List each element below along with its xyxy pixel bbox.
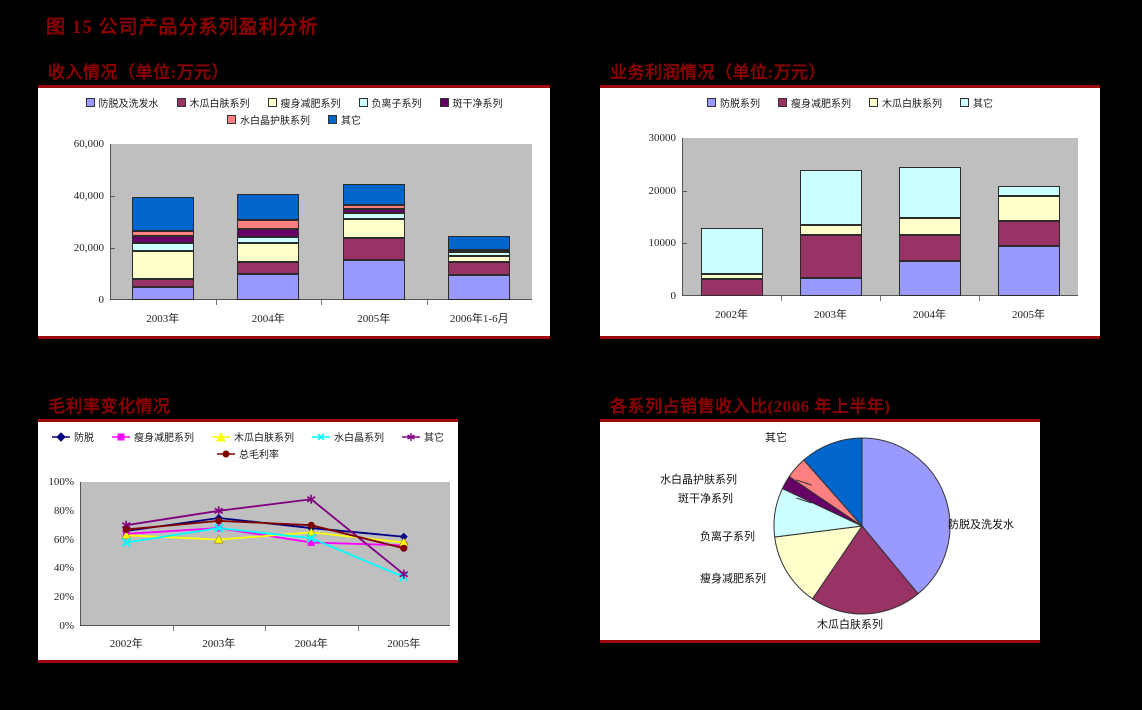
page-title: 图 15 公司产品分系列盈利分析 [46, 12, 319, 39]
panel-margin-rule-bottom [38, 660, 458, 663]
legend-label: 总毛利率 [239, 446, 279, 461]
chart-share: 防脱及洗发水木瓜白肤系列瘦身减肥系列负离子系列斑干净系列水白晶护肤系列其它 [600, 422, 1040, 640]
bar-segment[interactable] [132, 243, 194, 251]
legend-label: 防脱系列 [720, 95, 760, 110]
y-axis-tick [110, 248, 115, 249]
legend-item[interactable]: 瘦身减肥系列 [778, 95, 851, 110]
bar-segment[interactable] [800, 278, 862, 296]
bar-segment[interactable] [343, 260, 405, 300]
legend-item[interactable]: 其它 [402, 429, 444, 444]
pie-slice-label: 斑干净系列 [678, 490, 733, 506]
legend-item[interactable]: 其它 [328, 112, 361, 127]
legend-item[interactable]: 总毛利率 [217, 446, 279, 461]
legend-label: 其它 [424, 429, 444, 444]
bar-segment[interactable] [343, 209, 405, 213]
x-axis-tick [979, 296, 980, 301]
legend-swatch-icon [177, 98, 186, 107]
legend-item[interactable]: 其它 [960, 95, 993, 110]
y-axis-tick-label: 0 [38, 294, 104, 306]
legend-label: 木瓜白肤系列 [190, 95, 250, 110]
bar-segment[interactable] [237, 194, 299, 220]
legend-swatch-icon [268, 98, 277, 107]
line-series-layer [38, 474, 458, 660]
legend-item[interactable]: 木瓜白肤系列 [177, 95, 250, 110]
legend-item[interactable]: 瘦身减肥系列 [268, 95, 341, 110]
bar-segment[interactable] [132, 287, 194, 300]
data-point-marker[interactable] [215, 517, 222, 524]
y-axis-tick-label: 20000 [600, 185, 676, 197]
panel-profit-title: 业务利润情况（单位:万元） [610, 58, 1100, 83]
panel-profit-rule-bottom [600, 336, 1100, 339]
bar-stack[interactable] [343, 144, 405, 300]
bar-segment[interactable] [237, 274, 299, 300]
bar-segment[interactable] [800, 225, 862, 235]
bar-segment[interactable] [899, 235, 961, 260]
legend-revenue: 防脱及洗发水木瓜白肤系列瘦身减肥系列负离子系列斑干净系列水白晶护肤系列其它 [38, 88, 550, 130]
bar-stack[interactable] [237, 144, 299, 300]
bar-segment[interactable] [701, 274, 763, 279]
legend-label: 瘦身减肥系列 [134, 429, 194, 444]
bar-segment[interactable] [237, 243, 299, 262]
legend-item[interactable]: 木瓜白肤系列 [212, 429, 294, 444]
y-axis-tick-label: 10000 [600, 237, 676, 249]
x-axis-tick [216, 300, 217, 305]
bar-segment[interactable] [343, 184, 405, 206]
bar-segment[interactable] [343, 219, 405, 238]
panel-share: 各系列占销售收入比(2006 年上半年) 防脱及洗发水木瓜白肤系列瘦身减肥系列负… [600, 392, 1040, 643]
bar-segment[interactable] [132, 231, 194, 236]
bar-segment[interactable] [800, 170, 862, 226]
legend-marker-icon [212, 432, 230, 442]
legend-item[interactable]: 防脱及洗发水 [86, 95, 159, 110]
bar-segment[interactable] [998, 221, 1060, 246]
y-axis-tick [682, 243, 687, 244]
bar-segment[interactable] [343, 205, 405, 208]
bar-segment[interactable] [899, 261, 961, 296]
legend-swatch-icon [86, 98, 95, 107]
legend-label: 瘦身减肥系列 [281, 95, 341, 110]
legend-swatch-icon [440, 98, 449, 107]
panel-share-body: 防脱及洗发水木瓜白肤系列瘦身减肥系列负离子系列斑干净系列水白晶护肤系列其它 [600, 422, 1040, 640]
bar-segment[interactable] [343, 238, 405, 259]
bar-stack[interactable] [800, 138, 862, 296]
x-axis-tick-label: 2003年 [110, 310, 216, 326]
legend-label: 防脱及洗发水 [99, 95, 159, 110]
pie-slice-label: 木瓜白肤系列 [795, 616, 905, 632]
data-point-marker[interactable] [400, 545, 407, 552]
bar-segment[interactable] [237, 229, 299, 237]
chart-revenue: 020,00040,00060,0002003年2004年2005年2006年1… [38, 136, 550, 336]
panel-profit-body: 防脱系列瘦身减肥系列木瓜白肤系列其它 01000020000300002002年… [600, 88, 1100, 336]
x-axis-tick-label: 2005年 [979, 306, 1078, 322]
panel-revenue-title: 收入情况（单位:万元） [48, 58, 550, 83]
legend-swatch-icon [359, 98, 368, 107]
legend-label: 其它 [341, 112, 361, 127]
y-axis-tick [110, 196, 115, 197]
panel-revenue: 收入情况（单位:万元） 防脱及洗发水木瓜白肤系列瘦身减肥系列负离子系列斑干净系列… [38, 58, 550, 339]
bar-segment[interactable] [132, 236, 194, 242]
legend-label: 木瓜白肤系列 [234, 429, 294, 444]
panel-share-rule-bottom [600, 640, 1040, 643]
legend-item[interactable]: 瘦身减肥系列 [112, 429, 194, 444]
legend-marker-icon [52, 432, 70, 442]
x-axis-tick [781, 296, 782, 301]
pie-slice-label: 负离子系列 [700, 528, 755, 544]
y-axis-tick [682, 191, 687, 192]
legend-label: 瘦身减肥系列 [791, 95, 851, 110]
bar-segment[interactable] [237, 220, 299, 229]
panel-margin: 毛利率变化情况 防脱 瘦身减肥系列 木瓜白肤系列 水白晶系列 其它 总毛利率 [38, 392, 458, 663]
bar-segment[interactable] [237, 262, 299, 274]
bar-segment[interactable] [448, 262, 510, 275]
legend-item[interactable]: 斑干净系列 [440, 95, 503, 110]
legend-swatch-icon [960, 98, 969, 107]
chart-margin: 0%20%40%60%80%100%2002年2003年2004年2005年 [38, 474, 458, 660]
y-axis-tick-label: 0 [600, 290, 676, 302]
bar-segment[interactable] [701, 228, 763, 274]
legend-item[interactable]: 木瓜白肤系列 [869, 95, 942, 110]
x-axis-tick-label: 2006年1-6月 [427, 310, 533, 326]
bar-segment[interactable] [998, 186, 1060, 196]
bar-segment[interactable] [237, 237, 299, 243]
bar-segment[interactable] [448, 252, 510, 256]
legend-label: 斑干净系列 [453, 95, 503, 110]
x-axis-tick [880, 296, 881, 301]
bar-segment[interactable] [132, 197, 194, 231]
legend-marker-icon [112, 432, 130, 442]
bar-segment[interactable] [899, 167, 961, 218]
chart-profit: 01000020000300002002年2003年2004年2005年 [600, 128, 1100, 336]
x-axis-tick-label: 2004年 [216, 310, 322, 326]
bar-segment[interactable] [998, 196, 1060, 221]
legend-item[interactable]: 防脱系列 [707, 95, 760, 110]
bar-segment[interactable] [343, 213, 405, 220]
bar-stack[interactable] [701, 138, 763, 296]
legend-swatch-icon [328, 115, 337, 124]
legend-item[interactable]: 水白晶护肤系列 [227, 112, 310, 127]
legend-label: 负离子系列 [372, 95, 422, 110]
y-axis-tick-label: 60,000 [38, 138, 104, 150]
bar-segment[interactable] [998, 246, 1060, 296]
pie-slice-label: 防脱及洗发水 [948, 516, 1014, 532]
legend-item[interactable]: 负离子系列 [359, 95, 422, 110]
legend-label: 其它 [973, 95, 993, 110]
y-axis-tick-label: 40,000 [38, 190, 104, 202]
data-point-marker[interactable] [308, 522, 315, 529]
x-axis-tick-label: 2002年 [682, 306, 781, 322]
bar-segment[interactable] [701, 279, 763, 296]
bar-segment[interactable] [448, 256, 510, 262]
panel-revenue-body: 防脱及洗发水木瓜白肤系列瘦身减肥系列负离子系列斑干净系列水白晶护肤系列其它 02… [38, 88, 550, 336]
legend-swatch-icon [707, 98, 716, 107]
bar-stack[interactable] [998, 138, 1060, 296]
bar-stack[interactable] [448, 144, 510, 300]
legend-label: 防脱 [74, 429, 94, 444]
bar-stack[interactable] [132, 144, 194, 300]
panel-share-title: 各系列占销售收入比(2006 年上半年) [610, 392, 1040, 417]
x-axis-tick [427, 300, 428, 305]
legend-marker-icon [312, 432, 330, 442]
bar-segment[interactable] [800, 235, 862, 277]
bar-segment[interactable] [132, 279, 194, 287]
data-point-marker[interactable] [123, 526, 130, 533]
x-axis-tick-label: 2005年 [321, 310, 427, 326]
x-axis-tick [321, 300, 322, 305]
legend-swatch-icon [778, 98, 787, 107]
legend-marker-icon [402, 432, 420, 442]
legend-label: 水白晶系列 [334, 429, 384, 444]
legend-profit: 防脱系列瘦身减肥系列木瓜白肤系列其它 [600, 88, 1100, 113]
legend-margin: 防脱 瘦身减肥系列 木瓜白肤系列 水白晶系列 其它 总毛利率 [38, 422, 458, 464]
legend-item[interactable]: 防脱 [52, 429, 94, 444]
panel-revenue-rule-bottom [38, 336, 550, 339]
slide-canvas: 图 15 公司产品分系列盈利分析 收入情况（单位:万元） 防脱及洗发水木瓜白肤系… [0, 0, 1142, 710]
y-axis-tick-label: 20,000 [38, 242, 104, 254]
legend-marker-icon [217, 449, 235, 459]
legend-item[interactable]: 水白晶系列 [312, 429, 384, 444]
pie-slice-label: 其它 [765, 429, 787, 445]
bar-segment[interactable] [899, 218, 961, 235]
x-axis-tick-label: 2003年 [781, 306, 880, 322]
panel-margin-body: 防脱 瘦身减肥系列 木瓜白肤系列 水白晶系列 其它 总毛利率 0%20%40%6… [38, 422, 458, 660]
bar-stack[interactable] [899, 138, 961, 296]
bar-segment[interactable] [448, 275, 510, 300]
legend-swatch-icon [227, 115, 236, 124]
panel-profit: 业务利润情况（单位:万元） 防脱系列瘦身减肥系列木瓜白肤系列其它 0100002… [600, 58, 1100, 339]
bar-segment[interactable] [448, 236, 510, 250]
legend-label: 木瓜白肤系列 [882, 95, 942, 110]
bar-segment[interactable] [132, 251, 194, 280]
legend-label: 水白晶护肤系列 [240, 112, 310, 127]
pie-slice-label: 水白晶护肤系列 [660, 471, 737, 487]
pie-slice-label: 瘦身减肥系列 [700, 570, 766, 586]
x-axis-tick-label: 2004年 [880, 306, 979, 322]
y-axis-tick-label: 30000 [600, 132, 676, 144]
panel-margin-title: 毛利率变化情况 [48, 392, 458, 417]
legend-swatch-icon [869, 98, 878, 107]
